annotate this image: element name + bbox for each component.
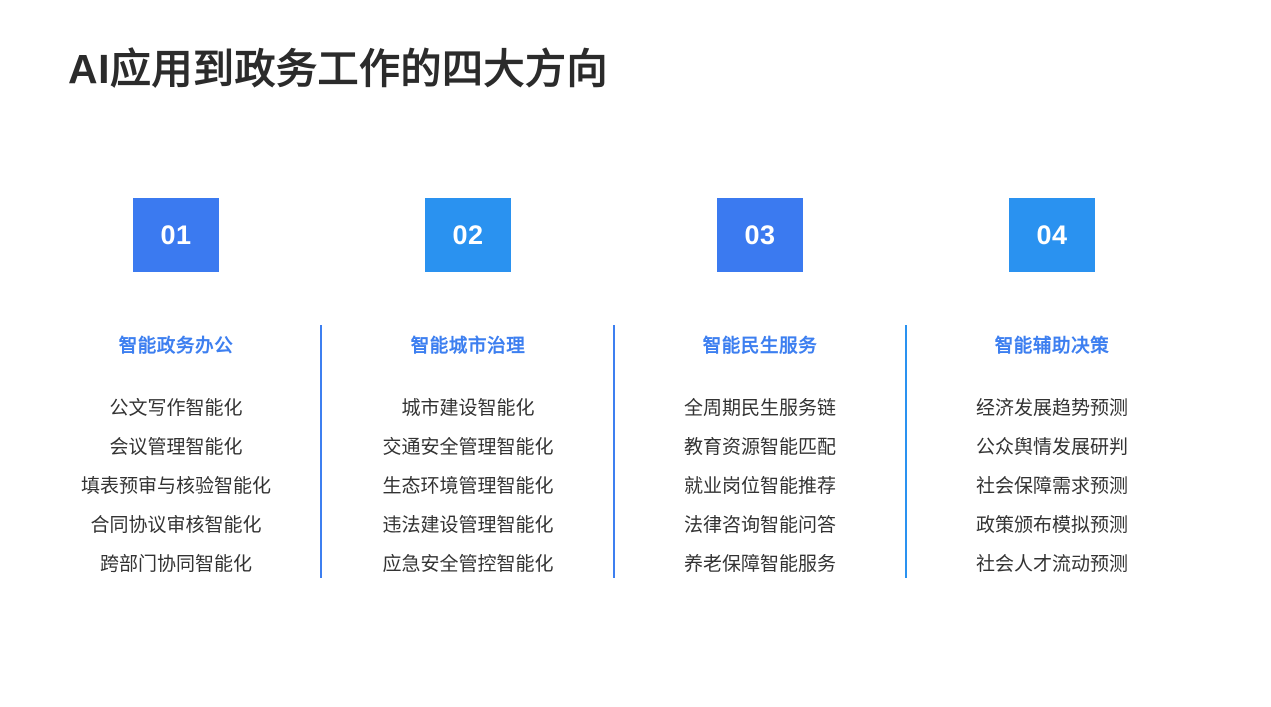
column-heading-04: 智能辅助决策 <box>995 332 1110 358</box>
list-item: 填表预审与核验智能化 <box>81 467 271 506</box>
column-heading-02: 智能城市治理 <box>411 332 526 358</box>
list-item: 跨部门协同智能化 <box>100 545 252 584</box>
list-item: 城市建设智能化 <box>401 389 534 428</box>
list-item: 违法建设管理智能化 <box>382 506 553 545</box>
direction-column-02: 02 智能城市治理 城市建设智能化 交通安全管理智能化 生态环境管理智能化 违法… <box>322 190 614 590</box>
number-badge-02: 02 <box>425 198 511 272</box>
page-title: AI应用到政务工作的四大方向 <box>68 45 608 94</box>
direction-column-01: 01 智能政务办公 公文写作智能化 会议管理智能化 填表预审与核验智能化 合同协… <box>30 190 322 590</box>
list-item: 经济发展趋势预测 <box>976 389 1128 428</box>
direction-column-04: 04 智能辅助决策 经济发展趋势预测 公众舆情发展研判 社会保障需求预测 政策颁… <box>906 190 1198 590</box>
direction-column-03: 03 智能民生服务 全周期民生服务链 教育资源智能匹配 就业岗位智能推荐 法律咨… <box>614 190 906 590</box>
list-item: 教育资源智能匹配 <box>684 428 836 467</box>
column-list-01: 公文写作智能化 会议管理智能化 填表预审与核验智能化 合同协议审核智能化 跨部门… <box>81 389 271 584</box>
number-badge-label-04: 04 <box>1036 222 1067 249</box>
list-item: 交通安全管理智能化 <box>382 428 553 467</box>
list-item: 会议管理智能化 <box>109 428 242 467</box>
list-item: 生态环境管理智能化 <box>382 467 553 506</box>
column-divider-2 <box>613 325 615 578</box>
list-item: 公文写作智能化 <box>109 389 242 428</box>
column-list-04: 经济发展趋势预测 公众舆情发展研判 社会保障需求预测 政策颁布模拟预测 社会人才… <box>976 389 1128 584</box>
list-item: 社会人才流动预测 <box>976 545 1128 584</box>
list-item: 合同协议审核智能化 <box>90 506 261 545</box>
four-directions-columns: 01 智能政务办公 公文写作智能化 会议管理智能化 填表预审与核验智能化 合同协… <box>0 190 1271 590</box>
column-heading-03: 智能民生服务 <box>703 332 818 358</box>
list-item: 社会保障需求预测 <box>976 467 1128 506</box>
number-badge-04: 04 <box>1009 198 1095 272</box>
list-item: 公众舆情发展研判 <box>976 428 1128 467</box>
number-badge-label-02: 02 <box>452 222 483 249</box>
number-badge-label-03: 03 <box>744 222 775 249</box>
column-list-03: 全周期民生服务链 教育资源智能匹配 就业岗位智能推荐 法律咨询智能问答 养老保障… <box>684 389 836 584</box>
slide-canvas: AI应用到政务工作的四大方向 01 智能政务办公 公文写作智能化 会议管理智能化… <box>0 0 1271 707</box>
number-badge-01: 01 <box>133 198 219 272</box>
list-item: 就业岗位智能推荐 <box>684 467 836 506</box>
list-item: 法律咨询智能问答 <box>684 506 836 545</box>
column-divider-1 <box>320 325 322 578</box>
list-item: 养老保障智能服务 <box>684 545 836 584</box>
column-divider-3 <box>905 325 907 578</box>
list-item: 全周期民生服务链 <box>684 389 836 428</box>
list-item: 政策颁布模拟预测 <box>976 506 1128 545</box>
column-list-02: 城市建设智能化 交通安全管理智能化 生态环境管理智能化 违法建设管理智能化 应急… <box>382 389 553 584</box>
column-heading-01: 智能政务办公 <box>119 332 234 358</box>
number-badge-03: 03 <box>717 198 803 272</box>
list-item: 应急安全管控智能化 <box>382 545 553 584</box>
number-badge-label-01: 01 <box>160 222 191 249</box>
